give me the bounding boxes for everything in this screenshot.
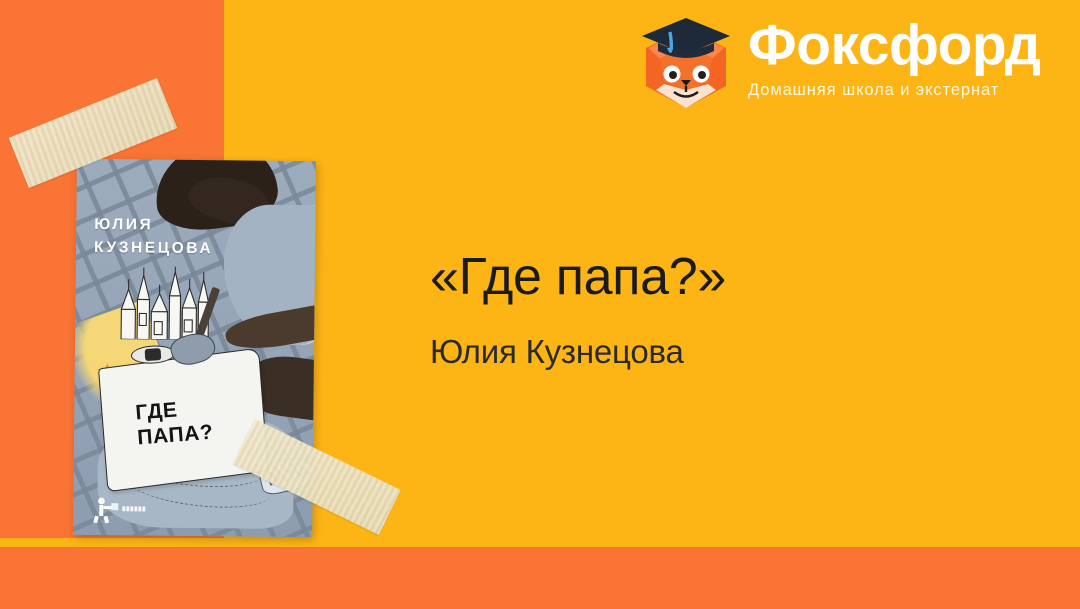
cover-author-line-1: ЮЛИЯ [94, 213, 213, 237]
brand-name: Фоксфорд [748, 12, 1066, 78]
fox-graduate-icon [634, 14, 738, 118]
background-orange-bottom-band [0, 547, 1080, 609]
illustration-eyeglass-lens [145, 348, 162, 361]
slide-canvas: Фоксфорд Домашняя школа и экстернат [0, 0, 1080, 609]
brand-tagline: Домашняя школа и экстернат [748, 80, 1066, 100]
page-author: Юлия Кузнецова [430, 333, 684, 371]
page-title: «Где папа?» [430, 247, 726, 307]
cover-sign-text: ГДЕ ПАПА? [134, 392, 255, 451]
cover-author-name: ЮЛИЯ КУЗНЕЦОВА [94, 213, 214, 260]
publisher-logo-icon [89, 495, 155, 524]
foxford-logo[interactable]: Фоксфорд Домашняя школа и экстернат [632, 8, 1064, 120]
cover-author-line-2: КУЗНЕЦОВА [94, 236, 213, 260]
logo-text-block: Фоксфорд Домашняя школа и экстернат [748, 12, 1066, 100]
